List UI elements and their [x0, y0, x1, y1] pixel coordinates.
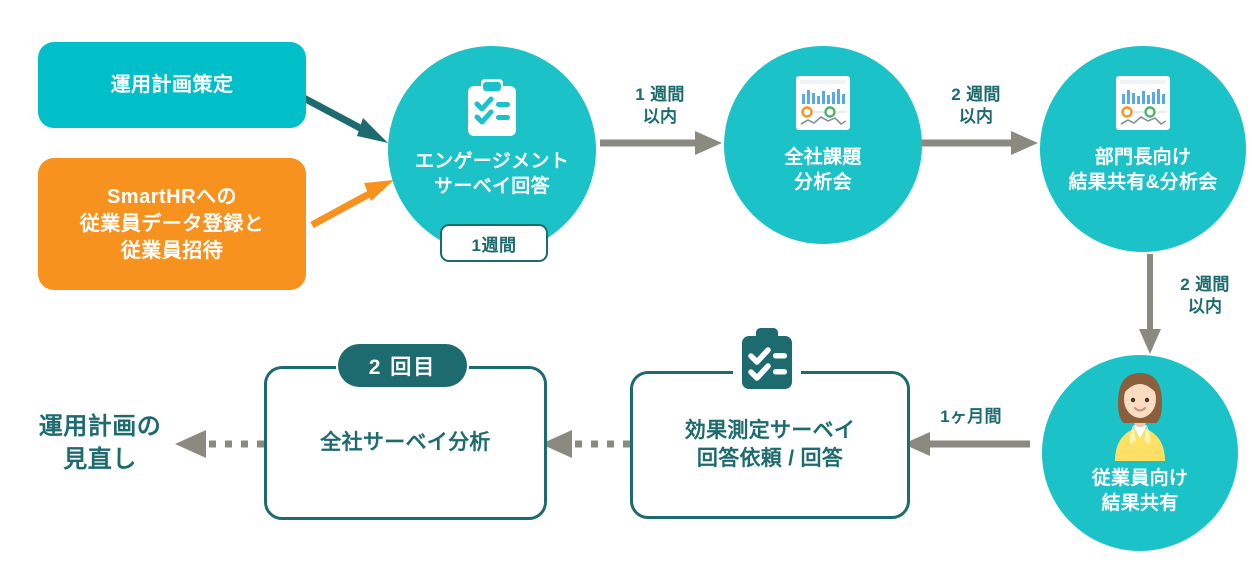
- box-plan-label: 運用計画策定: [111, 72, 234, 99]
- circle-manager-share-label: 部門長向け 結果共有&分析会: [1068, 146, 1217, 195]
- box-register[interactable]: SmartHRへの 従業員データ登録と 従業員招待: [38, 158, 306, 290]
- clipboard-checklist-icon: [464, 78, 520, 138]
- round-badge-2nd: 2 回目: [338, 344, 467, 387]
- circle-employee-share[interactable]: 従業員向け 結果共有: [1042, 355, 1238, 551]
- box-company-survey-analysis[interactable]: 全社サーベイ分析: [264, 366, 547, 520]
- circle-engagement-survey-label: エンゲージメント サーベイ回答: [415, 150, 569, 199]
- circle-company-issue-analysis[interactable]: 全社課題 分析会: [724, 46, 922, 244]
- box-effect-survey-label: 効果測定サーベイ 回答依頼 / 回答: [685, 417, 855, 474]
- arrow-plan-to-survey: [300, 96, 388, 143]
- circle-manager-share[interactable]: 部門長向け 結果共有&分析会: [1040, 46, 1246, 252]
- caption-2week-within-top: 2 週間 以内: [912, 84, 1040, 129]
- arrow-survey-to-analysis: [600, 131, 722, 155]
- caption-1month: 1ヶ月間: [912, 406, 1030, 428]
- dashboard-chart-icon: [1114, 74, 1172, 132]
- arrow-analysis-to-manager: [920, 131, 1038, 155]
- circle-engagement-survey[interactable]: エンゲージメント サーベイ回答: [388, 46, 596, 254]
- arrow-effect-survey-to-analysis: [541, 430, 630, 458]
- arrow-employee-to-effect-survey: [903, 432, 1030, 456]
- box-effect-survey[interactable]: 効果測定サーベイ 回答依頼 / 回答: [630, 371, 910, 519]
- arrow-register-to-survey: [312, 180, 394, 225]
- arrow-analysis-to-plan-review: [175, 430, 264, 458]
- arrow-manager-to-employee: [1139, 254, 1161, 354]
- employee-avatar-icon: [1103, 369, 1177, 461]
- duration-badge-1week: 1週間: [440, 224, 548, 262]
- diagram-canvas: 運用計画策定 SmartHRへの 従業員データ登録と 従業員招待 エンゲージメン…: [0, 0, 1252, 576]
- dashboard-chart-icon: [794, 74, 852, 132]
- caption-2week-within-right: 2 週間 以内: [1162, 274, 1248, 319]
- box-company-survey-analysis-label: 全社サーベイ分析: [320, 429, 490, 457]
- caption-1week-within: 1 週間 以内: [598, 84, 722, 129]
- box-register-label: SmartHRへの 従業員データ登録と 従業員招待: [80, 184, 265, 265]
- circle-employee-share-label: 従業員向け 結果共有: [1092, 467, 1189, 516]
- round-badge-2nd-text: 2 回目: [369, 351, 437, 381]
- box-plan[interactable]: 運用計画策定: [38, 42, 306, 128]
- duration-badge-1week-text: 1週間: [472, 231, 517, 256]
- circle-company-issue-analysis-label: 全社課題 分析会: [784, 146, 861, 195]
- clipboard-checklist-icon: [738, 327, 796, 391]
- text-plan-review: 運用計画の 見直し: [26, 410, 174, 476]
